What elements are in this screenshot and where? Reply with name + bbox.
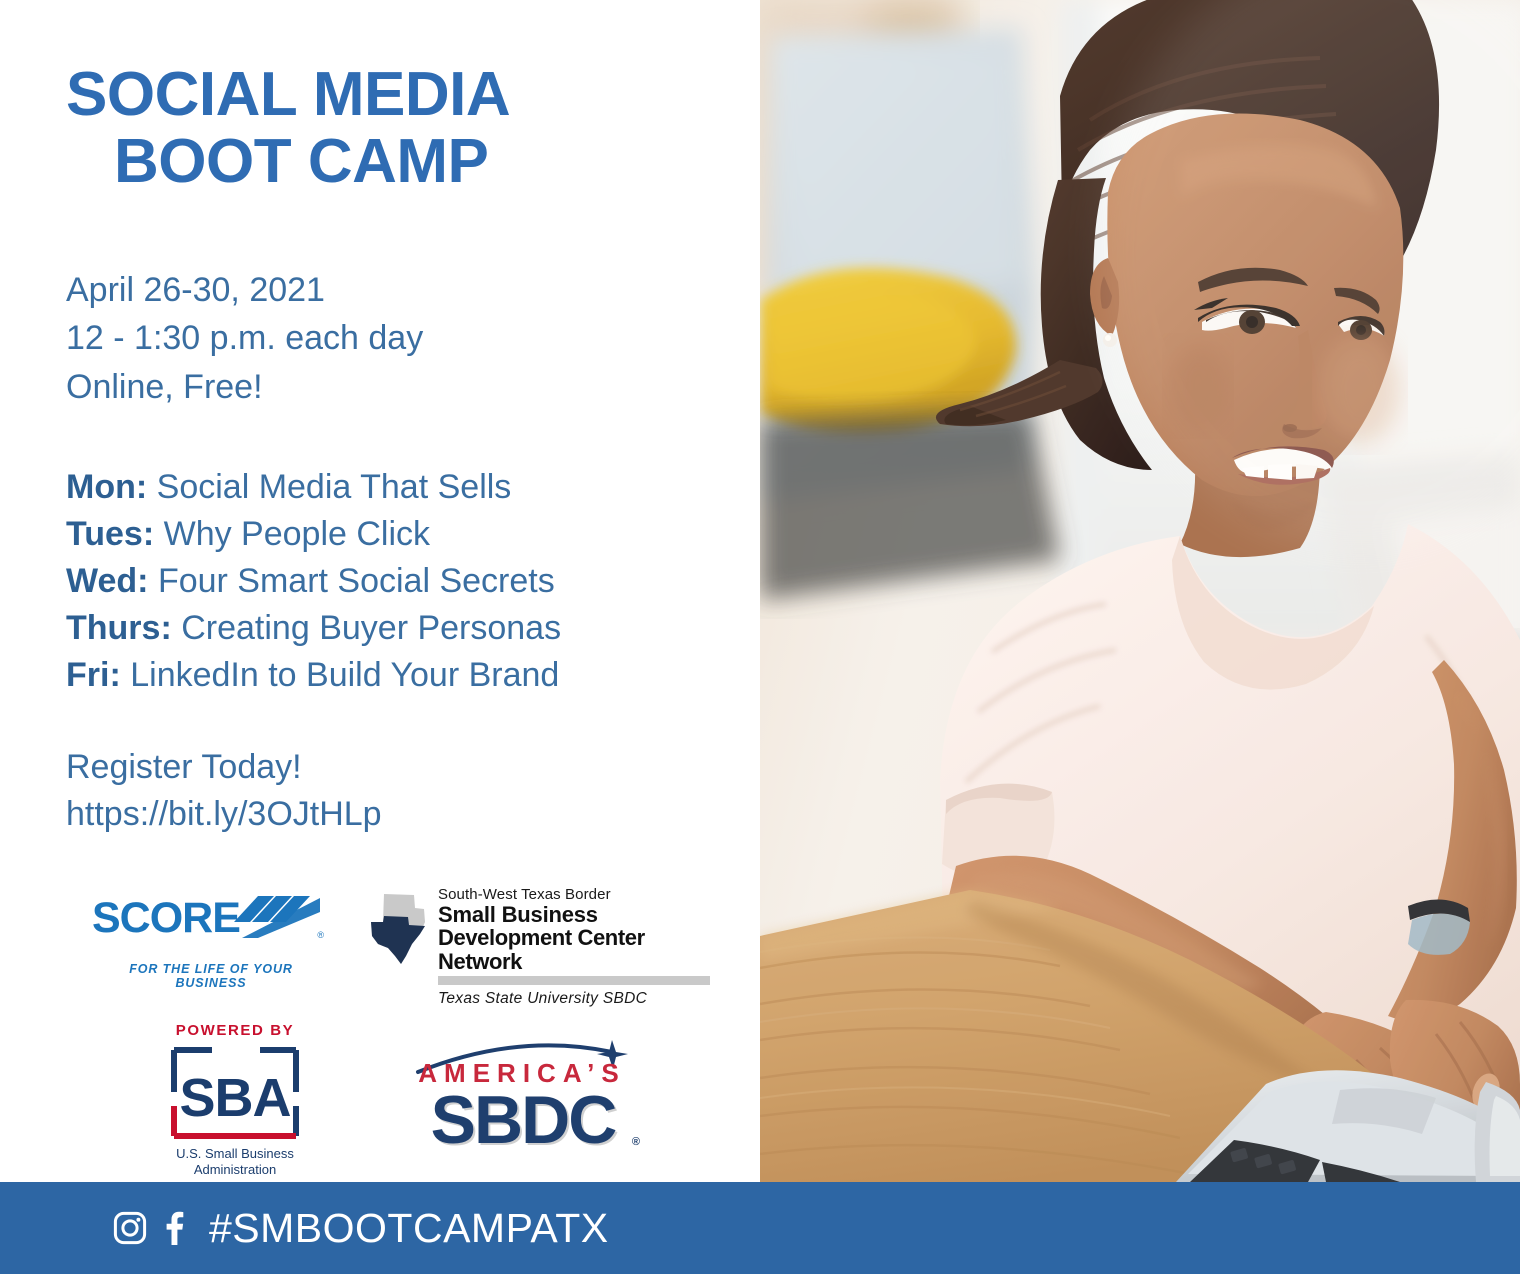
event-format: Online, Free! — [66, 363, 706, 411]
schedule-day: Wed: — [66, 562, 148, 600]
schedule-row: Wed: Four Smart Social Secrets — [66, 558, 726, 605]
sbdc-divider-bar — [438, 976, 710, 985]
score-swoosh-icon — [234, 892, 322, 952]
schedule-topic: Creating Buyer Personas — [181, 609, 561, 647]
hashtag-text: #SMBOOTCAMPATX — [209, 1205, 609, 1252]
sba-caption-line-1: U.S. Small Business — [176, 1146, 294, 1161]
schedule-topic: Four Smart Social Secrets — [158, 562, 555, 600]
register-url[interactable]: https://bit.ly/3OJtHLp — [66, 791, 726, 838]
title-line-2: BOOT CAMP — [114, 129, 706, 196]
instagram-icon[interactable] — [113, 1211, 147, 1245]
sba-mark-icon: SBA — [168, 1044, 302, 1142]
americas-sbdc-logo: AMERICA’S SBDC ® — [398, 1036, 648, 1161]
schedule-day: Mon: — [66, 468, 147, 506]
logo-row-secondary: POWERED BY SBA U.S. Small Business Admin… — [0, 1018, 760, 1178]
event-details: April 26-30, 2021 12 - 1:30 p.m. each da… — [66, 266, 706, 411]
sba-logo: POWERED BY SBA U.S. Small Business Admin… — [140, 1022, 330, 1172]
logo-row-primary: SCORE ® FOR THE LIFE OF YOUR BUSINESS — [0, 880, 760, 1010]
schedule-row: Fri: LinkedIn to Build Your Brand — [66, 652, 726, 699]
sba-powered-by-label: POWERED BY — [140, 1022, 330, 1039]
sbdc-line-1: South-West Texas Border — [438, 886, 713, 903]
social-banner-content: #SMBOOTCAMPATX — [113, 1205, 609, 1252]
flyer-root: SOCIAL MEDIA BOOT CAMP April 26-30, 2021… — [0, 0, 1520, 1274]
social-banner: #SMBOOTCAMPATX — [0, 1182, 1520, 1274]
sba-caption-line-2: Administration — [194, 1162, 276, 1177]
sbdc-texas-logo: South-West Texas Border Small Business D… — [368, 886, 713, 996]
register-cta: Register Today! — [66, 744, 726, 791]
score-logo: SCORE ® FOR THE LIFE OF YOUR BUSINESS — [92, 890, 322, 990]
sbdc-line-3: Development Center Network — [438, 926, 713, 973]
woman-using-laptop-photo — [760, 0, 1520, 1182]
sbdc-line-4: Texas State University SBDC — [438, 990, 713, 1008]
event-dates: April 26-30, 2021 — [66, 266, 706, 314]
event-time: 12 - 1:30 p.m. each day — [66, 314, 706, 362]
sbdc-texas-text: South-West Texas Border Small Business D… — [438, 886, 713, 1008]
score-wordmark: SCORE — [92, 894, 240, 943]
score-mark: SCORE ® — [92, 890, 322, 956]
schedule-day: Fri: — [66, 656, 121, 694]
schedule-topic: LinkedIn to Build Your Brand — [130, 656, 559, 694]
title-line-1: SOCIAL MEDIA — [66, 62, 706, 129]
session-schedule: Mon: Social Media That Sells Tues: Why P… — [66, 464, 726, 699]
sba-caption: U.S. Small Business Administration — [140, 1146, 330, 1179]
score-registered-mark: ® — [317, 930, 324, 940]
schedule-topic: Social Media That Sells — [157, 468, 512, 506]
schedule-row: Tues: Why People Click — [66, 511, 726, 558]
score-tagline: FOR THE LIFE OF YOUR BUSINESS — [100, 962, 322, 990]
schedule-day: Tues: — [66, 515, 154, 553]
texas-map-icon — [368, 892, 430, 970]
sbdc-line-2: Small Business — [438, 903, 713, 926]
americas-sbdc-registered-mark: ® — [632, 1136, 640, 1148]
hero-photo — [760, 0, 1520, 1182]
page-title: SOCIAL MEDIA BOOT CAMP — [66, 62, 706, 196]
sbdc-wordmark: SBDC — [398, 1086, 648, 1154]
schedule-topic: Why People Click — [164, 515, 430, 553]
schedule-day: Thurs: — [66, 609, 172, 647]
schedule-row: Mon: Social Media That Sells — [66, 464, 726, 511]
facebook-icon[interactable] — [165, 1211, 185, 1245]
registration-block: Register Today! https://bit.ly/3OJtHLp — [66, 744, 726, 838]
content-column: SOCIAL MEDIA BOOT CAMP April 26-30, 2021… — [0, 0, 760, 1182]
svg-text:SBA: SBA — [179, 1068, 290, 1128]
schedule-row: Thurs: Creating Buyer Personas — [66, 605, 726, 652]
